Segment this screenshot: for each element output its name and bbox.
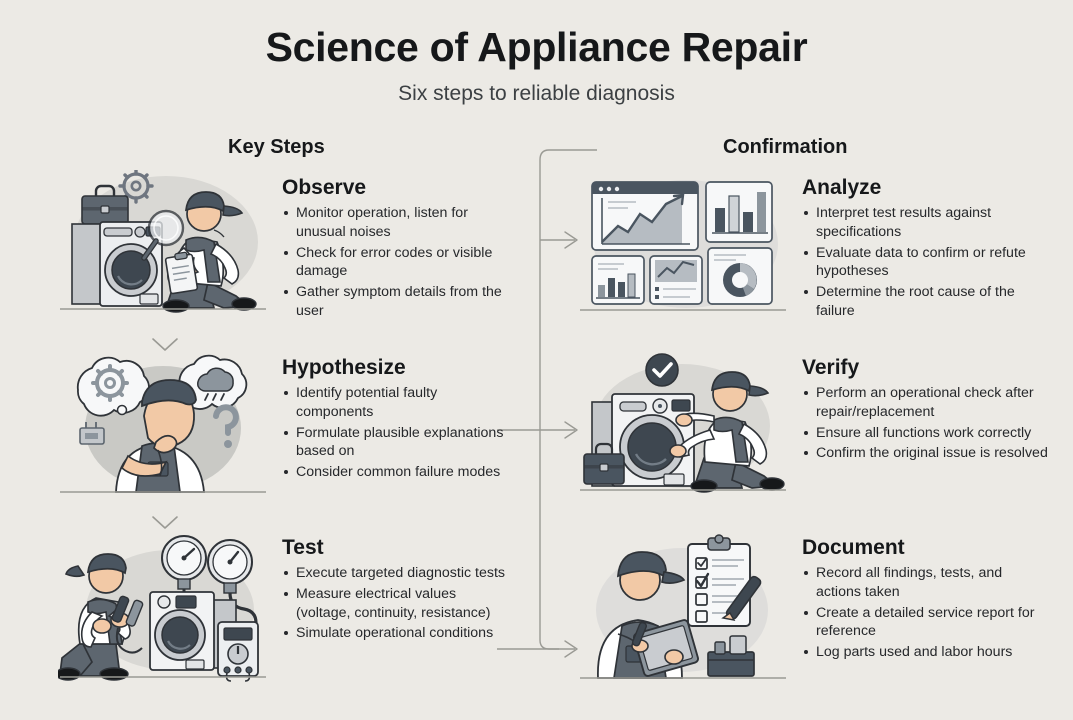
bullet-item: Formulate plausible explanations based o… [282,424,508,461]
step-block-hypothesize[interactable]: Hypothesize Identify potential faulty co… [58,350,508,500]
bullet-item: Measure electrical values (voltage, cont… [282,585,508,622]
step-block-observe[interactable]: Observe Monitor operation, listen for un… [58,170,508,323]
step-bullets-test: Execute targeted diagnostic tests Measur… [282,564,508,643]
illustration-document [578,530,788,685]
chart-panel-donut [708,248,772,304]
step-bullets-document: Record all findings, tests, and actions … [802,564,1048,662]
step-title-hypothesize: Hypothesize [282,356,508,379]
column-headers: Key Steps Confirmation [0,136,1073,166]
step-content-hypothesize: Hypothesize Identify potential faulty co… [268,350,508,484]
column-header-key-steps: Key Steps [228,136,325,159]
bullet-item: Perform an operational check after repai… [802,384,1048,421]
bullet-item: Interpret test results against specifica… [802,204,1048,241]
step-bullets-analyze: Interpret test results against specifica… [802,204,1048,320]
step-bullets-verify: Perform an operational check after repai… [802,384,1048,463]
multimeter-icon [218,622,258,681]
step-block-test[interactable]: Test Execute targeted diagnostic tests M… [58,530,508,685]
bullet-item: Simulate operational conditions [282,624,508,643]
column-header-confirmation: Confirmation [723,136,847,159]
step-title-test: Test [282,536,508,559]
bullet-item: Evaluate data to confirm or refute hypot… [802,244,1048,281]
bullet-item: Gather symptom details from the user [282,283,508,320]
illustration-verify [578,350,788,500]
illustration-analyze [578,170,788,320]
steps-grid: Observe Monitor operation, listen for un… [0,170,1073,710]
bullet-item: Monitor operation, listen for unusual no… [282,204,508,241]
page-subtitle: Six steps to reliable diagnosis [0,82,1073,106]
bullet-item: Execute targeted diagnostic tests [282,564,508,583]
illustration-hypothesize [58,350,268,500]
step-title-document: Document [802,536,1048,559]
bullet-item: Ensure all functions work correctly [802,424,1048,443]
step-content-verify: Verify Perform an operational check afte… [788,350,1048,465]
step-content-document: Document Record all findings, tests, and… [788,530,1048,664]
check-badge-icon [646,354,678,386]
step-block-document[interactable]: Document Record all findings, tests, and… [578,530,1048,685]
steps-row-3: Test Execute targeted diagnostic tests M… [0,530,1073,710]
bullet-item: Record all findings, tests, and actions … [802,564,1048,601]
step-block-verify[interactable]: Verify Perform an operational check afte… [578,350,1048,500]
steps-row-2: Hypothesize Identify potential faulty co… [0,350,1073,530]
bullet-item: Confirm the original issue is resolved [802,444,1048,463]
chart-panel-bars [706,182,772,242]
bullet-item: Identify potential faulty components [282,384,508,421]
step-title-observe: Observe [282,176,508,199]
bullet-item: Log parts used and labor hours [802,643,1048,662]
step-content-test: Test Execute targeted diagnostic tests M… [268,530,508,645]
step-title-analyze: Analyze [802,176,1048,199]
illustration-observe [58,170,268,320]
step-bullets-observe: Monitor operation, listen for unusual no… [282,204,508,320]
step-content-observe: Observe Monitor operation, listen for un… [268,170,508,323]
step-bullets-hypothesize: Identify potential faulty components For… [282,384,508,482]
chart-panel-mini-line [650,256,702,304]
illustration-test [58,530,268,685]
bullet-item: Consider common failure modes [282,463,508,482]
page-title: Science of Appliance Repair [0,26,1073,69]
bullet-item: Determine the root cause of the failure [802,283,1048,320]
bullet-item: Check for error codes or visible damage [282,244,508,281]
infographic-header: Science of Appliance Repair Six steps to… [0,0,1073,106]
step-content-analyze: Analyze Interpret test results against s… [788,170,1048,323]
step-title-verify: Verify [802,356,1048,379]
chart-panel-small-bars [592,256,644,304]
steps-row-1: Observe Monitor operation, listen for un… [0,170,1073,350]
step-block-analyze[interactable]: Analyze Interpret test results against s… [578,170,1048,323]
chart-panel-line [592,182,698,250]
bullet-item: Create a detailed service report for ref… [802,604,1048,641]
clipboard-icon [165,252,197,294]
